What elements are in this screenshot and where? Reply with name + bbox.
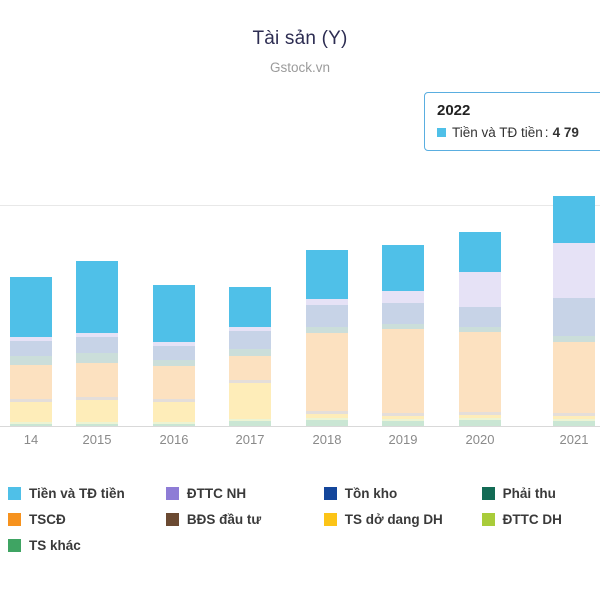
legend-swatch-icon <box>324 513 337 526</box>
chart-tooltip: 2022 Tiền và TĐ tiền : 4 79 <box>424 92 600 151</box>
legend-swatch-icon <box>482 513 495 526</box>
bar-segment[interactable] <box>459 307 501 327</box>
bar-segment[interactable] <box>10 424 52 426</box>
bar-segment[interactable] <box>229 331 271 349</box>
x-axis-tick: 2021 <box>544 432 600 447</box>
bar-segment[interactable] <box>459 272 501 307</box>
bar-segment[interactable] <box>229 421 271 426</box>
bar-segment[interactable] <box>382 329 424 413</box>
bar-2014[interactable] <box>10 277 52 426</box>
x-axis-labels: 142015201620172018201920202021 <box>0 432 600 452</box>
bar-segment[interactable] <box>553 342 595 413</box>
bar-segment[interactable] <box>382 245 424 291</box>
bar-segment[interactable] <box>229 349 271 356</box>
x-axis-tick: 2019 <box>373 432 433 447</box>
bar-segment[interactable] <box>306 305 348 327</box>
gridline-top <box>0 205 600 206</box>
bar-segment[interactable] <box>229 356 271 380</box>
bar-2017[interactable] <box>229 287 271 426</box>
legend-label: TS khác <box>29 538 81 553</box>
bar-segment[interactable] <box>153 366 195 399</box>
bar-segment[interactable] <box>153 402 195 422</box>
bar-segment[interactable] <box>382 303 424 324</box>
bar-2020[interactable] <box>459 232 501 426</box>
legend-item-0[interactable]: Tiền và TĐ tiền <box>8 486 166 501</box>
bar-segment[interactable] <box>10 356 52 365</box>
bar-segment[interactable] <box>382 291 424 303</box>
bar-segment[interactable] <box>153 346 195 360</box>
tooltip-separator: : <box>545 125 549 140</box>
legend-item-6[interactable]: TS dở dang DH <box>324 512 482 527</box>
bar-segment[interactable] <box>10 402 52 422</box>
bar-segment[interactable] <box>306 420 348 426</box>
legend-label: TSCĐ <box>29 512 66 527</box>
legend-item-1[interactable]: ĐTTC NH <box>166 486 324 501</box>
legend-item-2[interactable]: Tồn kho <box>324 486 482 501</box>
chart-container: Tài sản (Y) Gstock.vn 2022 Tiền và TĐ ti… <box>0 0 600 600</box>
legend-swatch-icon <box>482 487 495 500</box>
bar-segment[interactable] <box>153 424 195 426</box>
x-axis-tick: 2016 <box>144 432 204 447</box>
bar-segment[interactable] <box>76 353 118 363</box>
legend-swatch-icon <box>166 513 179 526</box>
legend-label: Tiền và TĐ tiền <box>29 486 125 501</box>
bar-segment[interactable] <box>459 232 501 272</box>
x-axis-tick: 2018 <box>297 432 357 447</box>
tooltip-series-swatch-icon <box>437 128 446 137</box>
plot-area <box>0 205 600 427</box>
chart-legend: Tiền và TĐ tiềnĐTTC NHTồn khoPhải thuTSC… <box>8 480 600 558</box>
bar-segment[interactable] <box>459 420 501 426</box>
legend-row: Tiền và TĐ tiềnĐTTC NHTồn khoPhải thu <box>8 480 600 506</box>
bar-segment[interactable] <box>10 365 52 399</box>
legend-label: TS dở dang DH <box>345 512 443 527</box>
x-axis-tick: 2020 <box>450 432 510 447</box>
legend-item-3[interactable]: Phải thu <box>482 486 600 501</box>
legend-label: Phải thu <box>503 486 556 501</box>
legend-swatch-icon <box>8 539 21 552</box>
legend-row: TSCĐBĐS đầu tưTS dở dang DHĐTTC DH <box>8 506 600 532</box>
bar-segment[interactable] <box>76 424 118 426</box>
bar-segment[interactable] <box>553 298 595 336</box>
legend-swatch-icon <box>8 513 21 526</box>
bar-2016[interactable] <box>153 285 195 426</box>
bar-2019[interactable] <box>382 245 424 426</box>
legend-item-4[interactable]: TSCĐ <box>8 512 166 527</box>
legend-label: ĐTTC DH <box>503 512 562 527</box>
bar-segment[interactable] <box>306 250 348 299</box>
bar-segment[interactable] <box>229 383 271 419</box>
legend-label: BĐS đầu tư <box>187 512 261 527</box>
legend-row: TS khác <box>8 532 600 558</box>
bar-segment[interactable] <box>382 421 424 426</box>
x-axis-tick: 2015 <box>67 432 127 447</box>
chart-subtitle: Gstock.vn <box>0 60 600 75</box>
bar-segment[interactable] <box>153 285 195 342</box>
legend-item-7[interactable]: ĐTTC DH <box>482 512 600 527</box>
bar-2018[interactable] <box>306 250 348 426</box>
tooltip-value: 4 79 <box>553 125 579 140</box>
legend-item-5[interactable]: BĐS đầu tư <box>166 512 324 527</box>
bar-segment[interactable] <box>76 337 118 353</box>
x-axis-tick: 14 <box>1 432 61 447</box>
x-axis-line <box>0 426 600 427</box>
bar-segment[interactable] <box>306 333 348 411</box>
tooltip-row: Tiền và TĐ tiền : 4 79 <box>437 125 600 140</box>
bar-segment[interactable] <box>553 243 595 298</box>
bar-segment[interactable] <box>459 332 501 412</box>
bar-segment[interactable] <box>553 421 595 426</box>
legend-label: Tồn kho <box>345 486 398 501</box>
bar-segment[interactable] <box>10 341 52 356</box>
tooltip-year: 2022 <box>437 102 600 119</box>
legend-item-8[interactable]: TS khác <box>8 538 168 553</box>
bar-segment[interactable] <box>76 400 118 422</box>
legend-label: ĐTTC NH <box>187 486 246 501</box>
x-axis-tick: 2017 <box>220 432 280 447</box>
bar-segment[interactable] <box>76 261 118 333</box>
legend-swatch-icon <box>166 487 179 500</box>
legend-swatch-icon <box>324 487 337 500</box>
bar-segment[interactable] <box>229 287 271 327</box>
legend-swatch-icon <box>8 487 21 500</box>
bar-2021[interactable] <box>553 196 595 426</box>
bar-segment[interactable] <box>553 196 595 243</box>
chart-title: Tài sản (Y) <box>0 28 600 50</box>
bar-2015[interactable] <box>76 261 118 426</box>
tooltip-series-label: Tiền và TĐ tiền <box>452 125 543 140</box>
bar-segment[interactable] <box>76 363 118 397</box>
bar-segment[interactable] <box>10 277 52 337</box>
